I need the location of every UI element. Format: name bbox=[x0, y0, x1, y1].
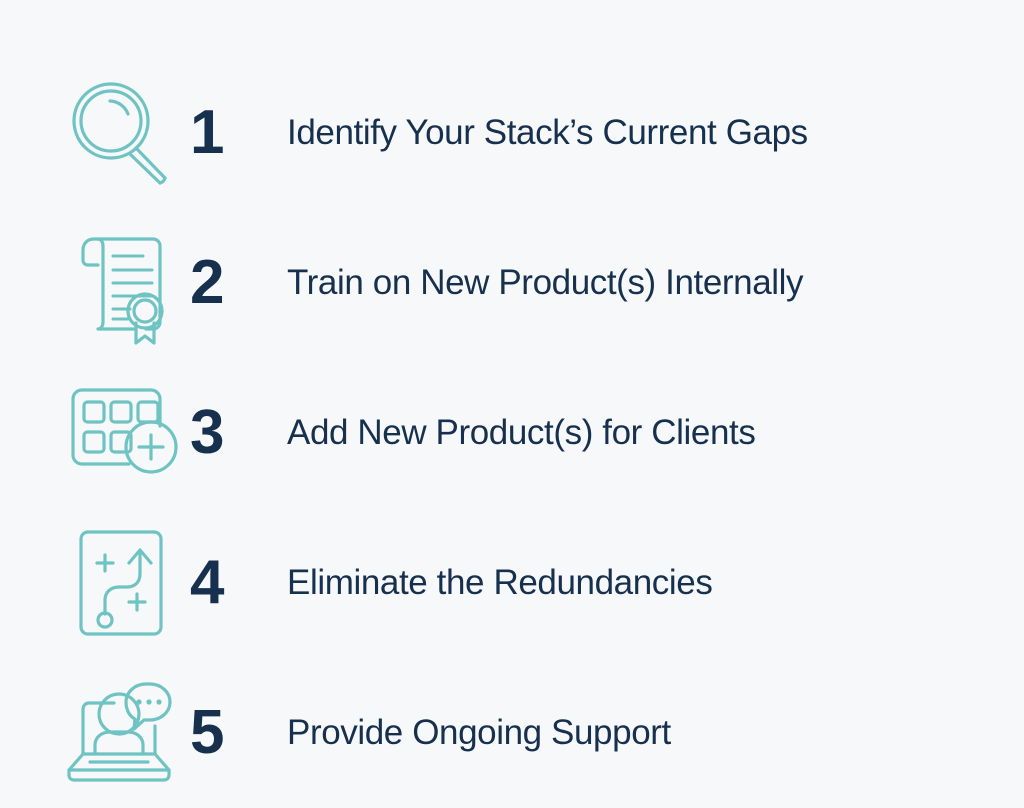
magnifier-icon bbox=[60, 73, 182, 193]
step-row-3: 3 Add New Product(s) for Clients bbox=[0, 358, 1024, 508]
step-label: Add New Product(s) for Clients bbox=[287, 413, 755, 453]
step-number: 3 bbox=[182, 402, 287, 464]
certificate-icon bbox=[60, 223, 182, 343]
step-label: Identify Your Stack’s Current Gaps bbox=[287, 113, 808, 153]
step-number: 4 bbox=[182, 552, 287, 614]
step-row-4: 4 Eliminate the Redundancies bbox=[0, 508, 1024, 658]
step-row-5: 5 Provide Ongoing Support bbox=[0, 658, 1024, 808]
step-label: Train on New Product(s) Internally bbox=[287, 263, 803, 303]
step-label: Provide Ongoing Support bbox=[287, 713, 671, 753]
step-row-1: 1 Identify Your Stack’s Current Gaps bbox=[0, 58, 1024, 208]
step-label: Eliminate the Redundancies bbox=[287, 563, 712, 603]
laptop-support-icon bbox=[60, 673, 182, 793]
step-number: 1 bbox=[182, 102, 287, 164]
step-number: 2 bbox=[182, 252, 287, 314]
add-grid-icon bbox=[60, 373, 182, 493]
path-arrow-icon bbox=[60, 523, 182, 643]
steps-infographic: 1 Identify Your Stack’s Current Gaps bbox=[0, 0, 1024, 806]
step-row-2: 2 Train on New Product(s) Internally bbox=[0, 208, 1024, 358]
step-number: 5 bbox=[182, 702, 287, 764]
